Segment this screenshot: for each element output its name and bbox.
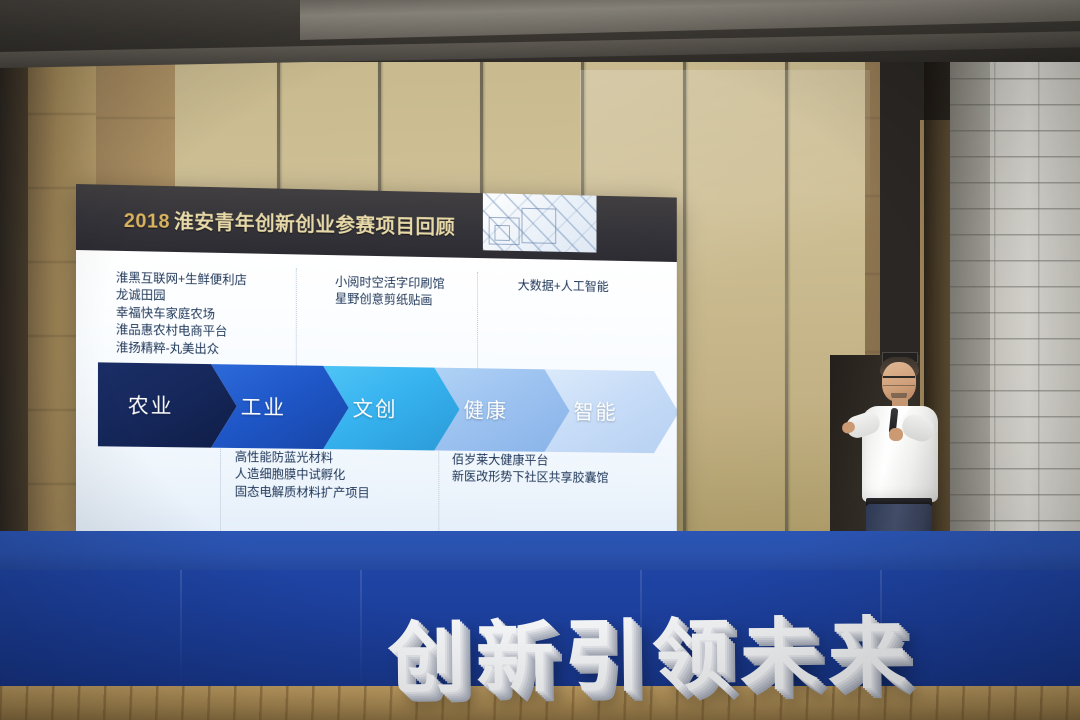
text-column-culture: 小阅时空活字印刷馆 星野创意剪纸贴画 (335, 273, 445, 310)
list-item: 佰岁莱大健康平台 (452, 451, 609, 470)
chevron-label: 健康 (464, 395, 508, 425)
list-item: 小阅时空活字印刷馆 (335, 273, 445, 292)
chevron-agriculture[interactable]: 农业 (98, 362, 237, 448)
list-item: 人造细胞膜中试孵化 (235, 465, 370, 484)
list-item: 星野创意剪纸贴画 (335, 290, 445, 309)
slide-title: 2018淮安青年创新创业参赛项目回顾 (124, 204, 455, 240)
text-column-intelligence: 大数据+人工智能 (518, 277, 609, 296)
chevron-band: 农业 工业 文创 健康 智能 (98, 362, 664, 453)
text-column-industry: 高性能防蓝光材料 人造细胞膜中试孵化 固态电解质材料扩产项目 (235, 448, 370, 502)
slide-header-bar: 2018淮安青年创新创业参赛项目回顾 (76, 184, 677, 262)
text-column-health: 佰岁莱大健康平台 新医改形势下社区共享胶囊馆 (452, 451, 609, 487)
projected-slide: 2018淮安青年创新创业参赛项目回顾 淮黑互联网+生鲜便利店 龙诚田园 幸福快车… (76, 184, 677, 541)
list-item: 新医改形势下社区共享胶囊馆 (452, 468, 609, 487)
text-column-agriculture: 淮黑互联网+生鲜便利店 龙诚田园 幸福快车家庭农场 淮品惠农村电商平台 淮扬精粹… (116, 269, 247, 358)
slide-title-text: 淮安青年创新创业参赛项目回顾 (174, 211, 455, 239)
chevron-label: 工业 (241, 391, 286, 421)
blueprint-thumbnail (483, 189, 597, 252)
slide-title-year: 2018 (124, 210, 170, 233)
chevron-label: 文创 (353, 393, 398, 423)
list-item: 固态电解质材料扩产项目 (235, 483, 370, 502)
conference-photo-scene: 2018淮安青年创新创业参赛项目回顾 淮黑互联网+生鲜便利店 龙诚田园 幸福快车… (0, 0, 1080, 720)
list-item: 淮黑互联网+生鲜便利店 (116, 269, 247, 289)
list-item: 淮品惠农村电商平台 (116, 321, 247, 341)
chevron-label: 智能 (573, 396, 617, 426)
list-item: 高性能防蓝光材料 (235, 448, 370, 467)
slide-body: 淮黑互联网+生鲜便利店 龙诚田园 幸福快车家庭农场 淮品惠农村电商平台 淮扬精粹… (76, 250, 677, 541)
chevron-label: 农业 (128, 390, 174, 421)
speaker-right-hand (889, 428, 903, 441)
list-item: 淮扬精粹-丸美出众 (116, 339, 247, 359)
list-item: 大数据+人工智能 (518, 277, 609, 296)
list-item: 龙诚田园 (116, 286, 247, 306)
list-item: 幸福快车家庭农场 (116, 304, 247, 324)
glasses-icon (883, 376, 915, 386)
stage-banner-text: 创新引领未来 (388, 614, 917, 698)
